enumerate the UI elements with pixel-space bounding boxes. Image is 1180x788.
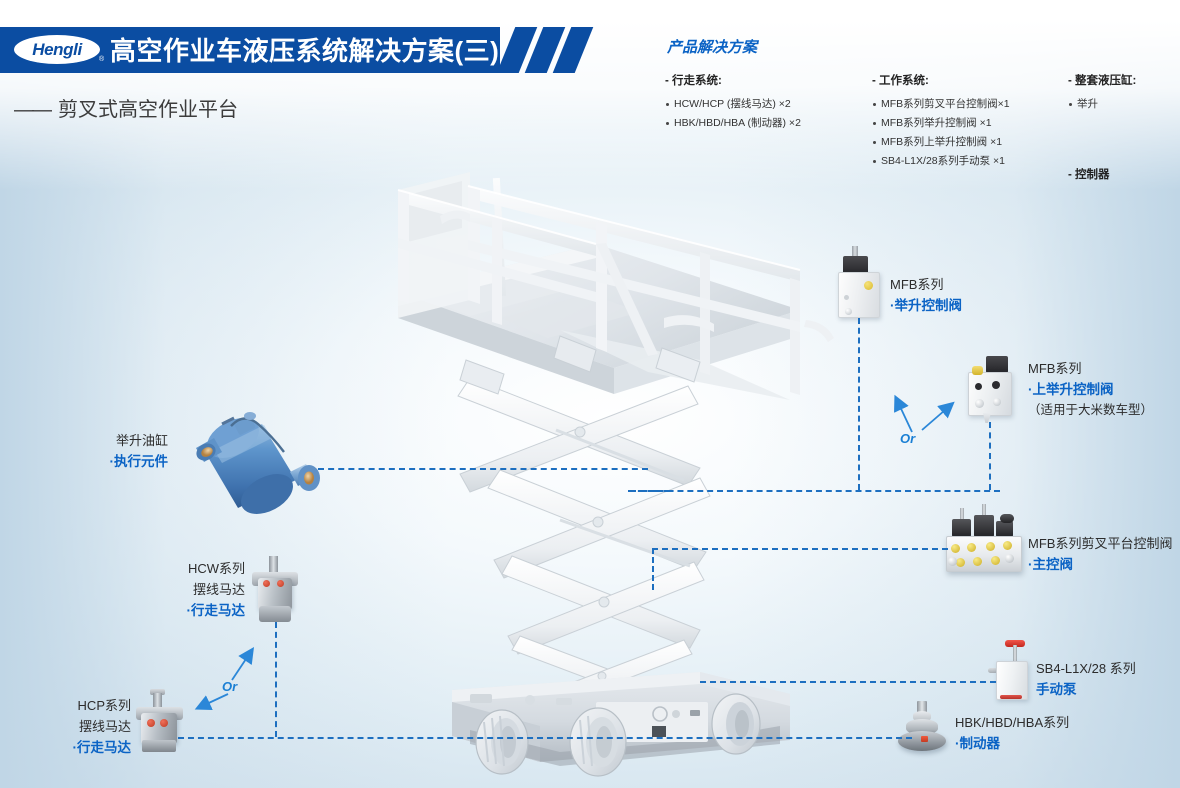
connector-lift-cylinder: [318, 468, 648, 470]
callout-line: 举升油缸: [0, 430, 168, 451]
column-heading-controller: - 控制器: [1068, 166, 1136, 182]
page-subtitle: ——剪叉式高空作业平台: [14, 93, 238, 122]
hengli-logo-text: Hengli: [14, 35, 100, 64]
subtitle-text: 剪叉式高空作业平台: [58, 99, 238, 121]
callout-line: MFB系列: [890, 274, 962, 295]
connector-main-valve: [652, 548, 948, 550]
product-solution-title: 产品解决方案: [667, 36, 757, 57]
callout-line: ·行走马达: [80, 600, 245, 621]
connector-valve-bus: [628, 490, 1000, 492]
list-item: MFB系列举升控制阀 ×1: [872, 114, 1010, 133]
product-solution-column-work: - 工作系统: MFB系列剪叉平台控制阀×1 MFB系列举升控制阀 ×1 MFB…: [872, 72, 1010, 171]
or-label-right: Or: [900, 431, 915, 446]
callout-line: ·行走马达: [0, 737, 131, 758]
column-heading: - 整套液压缸:: [1068, 72, 1136, 88]
callout-line: SB4-L1X/28 系列: [1036, 658, 1136, 679]
list-item: HCW/HCP (摆线马达) ×2: [665, 95, 801, 114]
list-item: MFB系列剪叉平台控制阀×1: [872, 95, 1010, 114]
callout-line: ·举升控制阀: [890, 295, 962, 316]
page-title: 高空作业车液压系统解决方案(三): [110, 31, 499, 68]
callout-line: ·主控阀: [1028, 554, 1172, 575]
connector-main-valve-vertical: [652, 548, 654, 590]
product-solution-column-travel: - 行走系统: HCW/HCP (摆线马达) ×2 HBK/HBD/HBA (制…: [665, 72, 801, 133]
callout-line: ·执行元件: [0, 451, 168, 472]
product-solution-column-cylinder: - 整套液压缸: 举升 - 控制器: [1068, 72, 1136, 189]
callout-line: ·上举升控制阀: [1028, 379, 1153, 400]
callout-hcw-motor: HCW系列 摆线马达 ·行走马达: [80, 558, 245, 621]
callout-line: HCP系列: [0, 695, 131, 716]
connector-mfb-lift-valve-vertical: [858, 318, 860, 490]
or-label-left: Or: [222, 679, 237, 694]
callout-brake: HBK/HBD/HBA系列 ·制动器: [955, 712, 1069, 754]
list-item: 举升: [1068, 95, 1136, 114]
diagram-canvas: Hengli ® 高空作业车液压系统解决方案(三) ——剪叉式高空作业平台 产品…: [0, 0, 1180, 788]
callout-mfb-lift-valve: MFB系列 ·举升控制阀: [890, 274, 962, 316]
list-item: HBK/HBD/HBA (制动器) ×2: [665, 114, 801, 133]
callout-main-valve: MFB系列剪叉平台控制阀 ·主控阀: [1028, 533, 1172, 575]
callout-line: HCW系列: [80, 558, 245, 579]
column-heading: - 行走系统:: [665, 72, 801, 88]
connector-mfb-upper-valve-vertical: [989, 422, 991, 490]
callout-line: HBK/HBD/HBA系列: [955, 712, 1069, 733]
callout-lift-cylinder: 举升油缸 ·执行元件: [0, 430, 168, 472]
connector-manual-pump: [700, 681, 996, 683]
callout-line: （适用于大米数车型）: [1028, 400, 1153, 421]
callout-line: 手动泵: [1036, 679, 1136, 700]
connector-hcw-motor-vertical: [275, 622, 277, 737]
callout-manual-pump: SB4-L1X/28 系列 手动泵: [1036, 658, 1136, 700]
column-heading: - 工作系统:: [872, 72, 1010, 88]
callout-hcp-motor: HCP系列 摆线马达 ·行走马达: [0, 695, 131, 758]
callout-line: 摆线马达: [80, 579, 245, 600]
callout-line: 摆线马达: [0, 716, 131, 737]
callout-line: MFB系列剪叉平台控制阀: [1028, 533, 1172, 554]
list-item: SB4-L1X/28系列手动泵 ×1: [872, 152, 1010, 171]
background-top-strip: [0, 0, 1180, 22]
callout-line: MFB系列: [1028, 358, 1153, 379]
registered-mark-icon: ®: [99, 56, 104, 63]
list-item: MFB系列上举升控制阀 ×1: [872, 133, 1010, 152]
connector-bottom-bus: [178, 737, 912, 739]
subtitle-dash: ——: [14, 99, 50, 121]
callout-line: ·制动器: [955, 733, 1069, 754]
callout-mfb-upper-lift-valve: MFB系列 ·上举升控制阀 （适用于大米数车型）: [1028, 358, 1153, 421]
